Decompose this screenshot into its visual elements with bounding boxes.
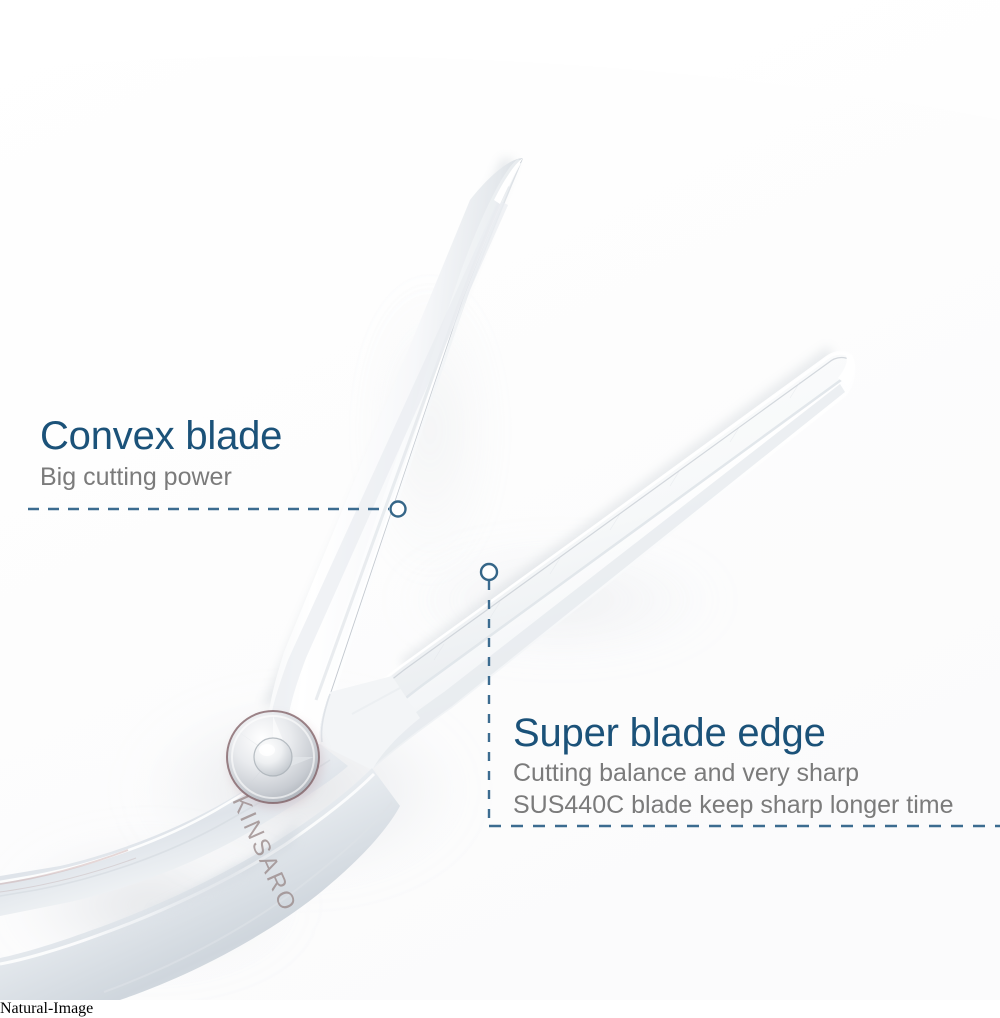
callout-convex-blade-title: Convex blade [40, 415, 282, 457]
callout-convex-blade: Convex blade Big cutting power [40, 415, 282, 494]
callout-super-blade-edge: Super blade edge Cutting balance and ver… [513, 712, 954, 821]
scissors-photo: KINSARO [0, 0, 1000, 1000]
callout-super-blade-edge-subtitle-line-2: SUS440C blade keep sharp longer time [513, 790, 954, 822]
callout-convex-blade-subtitle-line-1: Big cutting power [40, 462, 282, 494]
product-infographic: KINSARO [0, 0, 1000, 1000]
callout-super-blade-edge-subtitle-line-1: Cutting balance and very sharp [513, 758, 954, 790]
callout-super-blade-edge-title: Super blade edge [513, 712, 954, 754]
